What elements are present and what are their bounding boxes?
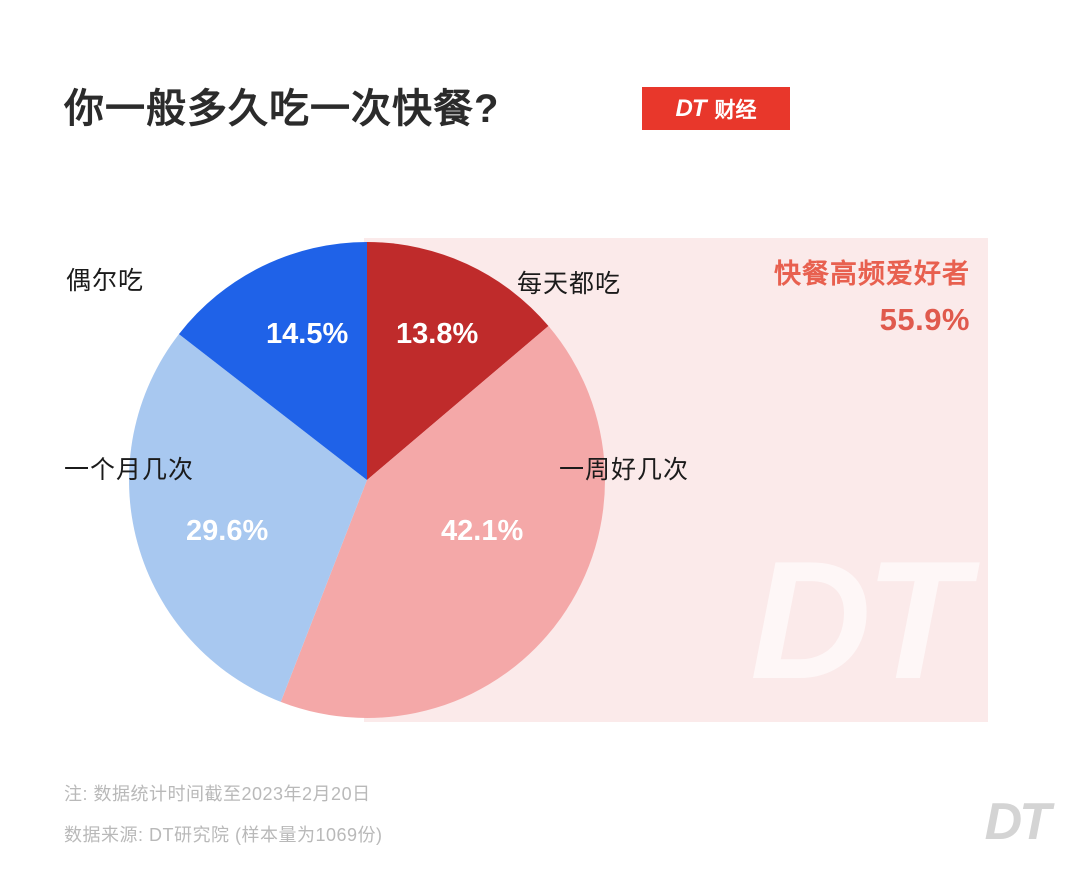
footer-source: 数据来源: DT研究院 (样本量为1069份) (64, 826, 383, 844)
page-title: 你一般多久吃一次快餐? (64, 76, 499, 134)
slice-value-monthly: 29.6% (186, 515, 268, 548)
dt-watermark-icon: DT (750, 536, 962, 704)
brand-badge: DT 财经 (642, 87, 790, 130)
slice-label-rarely: 偶尔吃 (66, 261, 144, 297)
callout-block: 快餐高频爱好者 55.9% (700, 258, 970, 338)
slice-label-daily: 每天都吃 (517, 264, 621, 300)
pie-chart (128, 241, 606, 719)
slice-label-weekly: 一周好几次 (559, 450, 689, 486)
brand-dt-text: DT (676, 95, 706, 123)
brand-cn-text: 财经 (715, 94, 757, 124)
slice-value-daily: 13.8% (396, 318, 478, 351)
pie-chart-svg (128, 241, 606, 719)
header: 你一般多久吃一次快餐? DT 财经 (0, 0, 1080, 190)
callout-title: 快餐高频爱好者 (700, 258, 970, 290)
footer-note: 注: 数据统计时间截至2023年2月20日 (64, 785, 383, 803)
footer: 注: 数据统计时间截至2023年2月20日 数据来源: DT研究院 (样本量为1… (64, 785, 383, 867)
infographic-root: 你一般多久吃一次快餐? DT 财经 DT 13.8% 42.1% 29.6% 1… (0, 0, 1080, 896)
callout-value: 55.9% (700, 302, 970, 338)
slice-value-rarely: 14.5% (266, 318, 348, 351)
dt-footer-logo-icon: DT (985, 796, 1048, 848)
slice-value-weekly: 42.1% (441, 515, 523, 548)
slice-label-monthly: 一个月几次 (64, 450, 194, 486)
